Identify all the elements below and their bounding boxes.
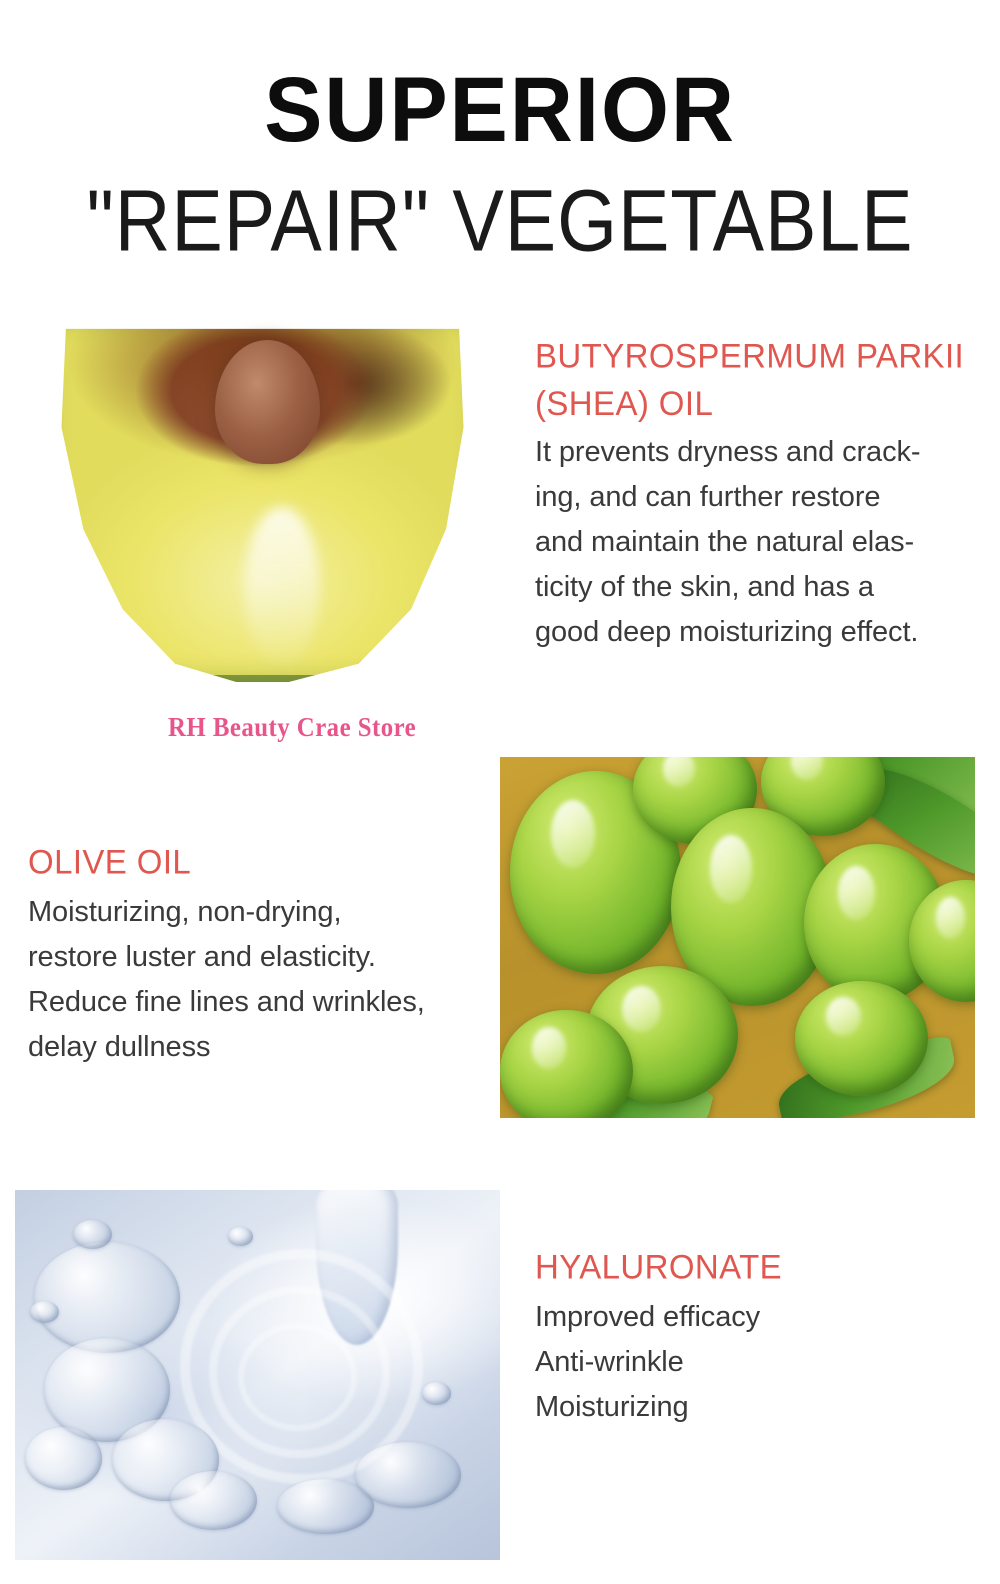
ingredient-heading-shea: BUTYROSPERMUM PARKII (SHEA) OIL (535, 332, 985, 428)
ingredient-block-olive: OLIVE OIL Moisturizing, non-drying, rest… (28, 838, 498, 1070)
description-line: restore luster and elasticity. (28, 935, 498, 980)
gel-bubble (25, 1427, 103, 1490)
description-line: and maintain the natural elas- (535, 520, 985, 565)
gel-swirl (238, 1323, 357, 1431)
page-title: SUPERIOR "REPAIR" VEGETABLE (0, 62, 1000, 268)
ingredient-description-shea: It prevents dryness and crack- ing, and … (535, 430, 985, 655)
ingredient-block-shea: BUTYROSPERMUM PARKII (SHEA) OIL It preve… (535, 332, 985, 655)
title-line-primary: SUPERIOR (25, 62, 975, 158)
ingredient-description-olive: Moisturizing, non-drying, restore luster… (28, 890, 498, 1070)
ingredient-heading-olive: OLIVE OIL (28, 838, 498, 886)
gel-bubble (73, 1220, 112, 1250)
gel-bubble (34, 1242, 180, 1353)
description-line: It prevents dryness and crack- (535, 430, 985, 475)
gel-bubble (422, 1382, 451, 1404)
description-line: Reduce fine lines and wrinkles, (28, 980, 498, 1025)
description-line: Moisturizing (535, 1385, 965, 1430)
ingredient-block-hyaluronate: HYALURONATE Improved efficacy Anti-wrink… (535, 1243, 965, 1430)
description-line: Improved efficacy (535, 1295, 965, 1340)
description-line: good deep moisturizing effect. (535, 610, 985, 655)
description-line: Anti-wrinkle (535, 1340, 965, 1385)
description-line: ing, and can further restore (535, 475, 985, 520)
description-line: Moisturizing, non-drying, (28, 890, 498, 935)
green-olives-photo (500, 757, 975, 1118)
hyaluronic-gel-photo (15, 1190, 500, 1560)
avocado-cross-section-photo (25, 318, 500, 682)
store-watermark: RH Beauty Crae Store (168, 712, 416, 743)
gel-bubble (228, 1227, 252, 1246)
avocado-oil-gloss (244, 507, 320, 667)
avocado-pit (215, 340, 320, 464)
olive-fruit (795, 981, 928, 1097)
description-line: ticity of the skin, and has a (535, 565, 985, 610)
description-line: delay dullness (28, 1025, 498, 1070)
title-line-secondary: "REPAIR" VEGETABLE (30, 173, 970, 271)
product-infographic-page: SUPERIOR "REPAIR" VEGETABLE BUTYROSPERMU… (0, 0, 1000, 1584)
ingredient-heading-hyaluronate: HYALURONATE (535, 1243, 965, 1291)
gel-bubble (30, 1301, 59, 1323)
gel-bubble (355, 1442, 462, 1509)
ingredient-description-hyaluronate: Improved efficacy Anti-wrinkle Moisturiz… (535, 1295, 965, 1430)
